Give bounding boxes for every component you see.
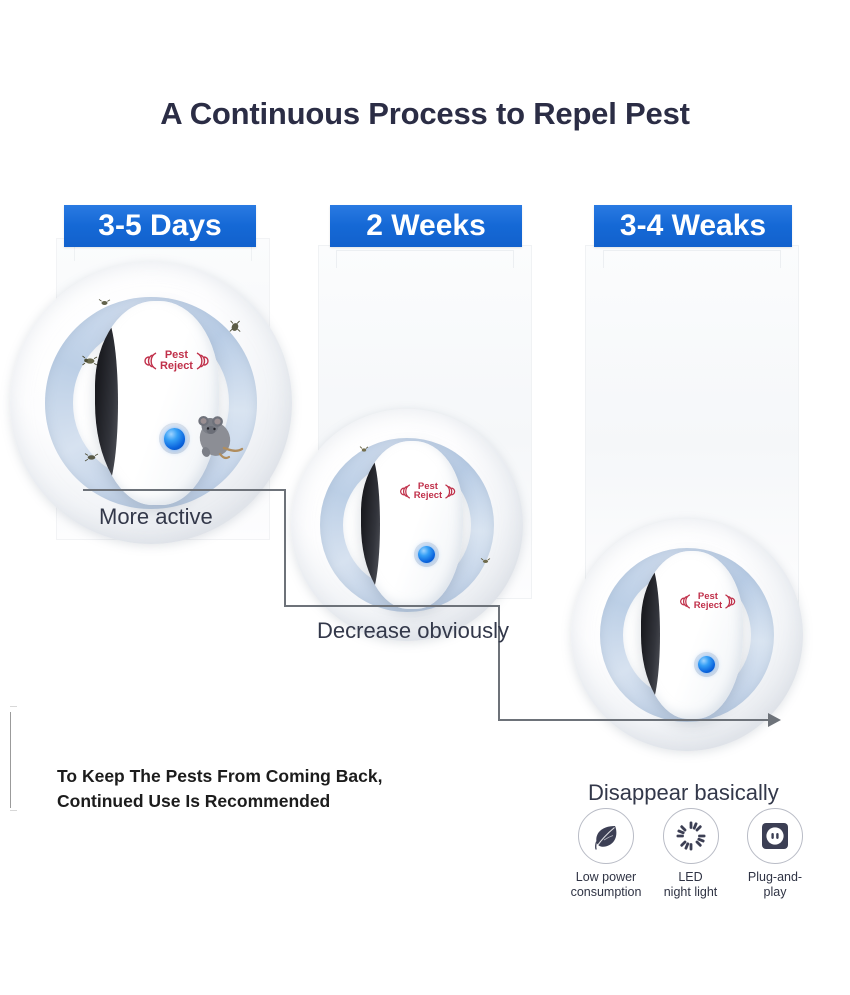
feature-circle	[663, 808, 719, 864]
repeller-body: Pest Reject	[361, 441, 463, 608]
pest-reject-logo: Pest Reject	[142, 350, 211, 372]
keep-pests-away-note: To Keep The Pests From Coming Back, Cont…	[57, 764, 382, 814]
led-core	[698, 656, 716, 674]
feature-plug-and-play: Plug-and-play	[737, 808, 813, 901]
pest-reject-logo: Pest Reject	[679, 592, 736, 611]
insect-icon	[359, 445, 369, 454]
connector-segment-3	[284, 605, 500, 607]
logo-line-2: Reject	[160, 361, 193, 372]
insect-icon	[98, 298, 111, 308]
led-core	[164, 428, 186, 450]
note-line-1: To Keep The Pests From Coming Back,	[57, 764, 382, 789]
logo-line-2: Reject	[414, 491, 443, 501]
feature-circle	[578, 808, 634, 864]
edge-tick-artifact-bottom	[10, 810, 17, 811]
stage-caption-1: More active	[99, 504, 213, 530]
speaker-slot	[95, 314, 119, 493]
stage-badge-3: 3-4 Weaks	[594, 205, 792, 247]
page-title: A Continuous Process to Repel Pest	[0, 96, 850, 132]
insect-icon	[82, 355, 98, 366]
sound-wave-right-icon	[194, 350, 210, 372]
power-socket-icon	[760, 821, 790, 851]
stage-caption-3: Disappear basically	[588, 780, 779, 806]
insect-icon	[480, 557, 491, 565]
sound-wave-left-icon	[399, 482, 412, 501]
led-indicator	[694, 652, 720, 678]
note-line-2: Continued Use Is Recommended	[57, 789, 382, 814]
infographic-canvas: A Continuous Process to Repel Pest 3-5 D…	[0, 0, 850, 995]
feature-led-night-light: LED night light	[653, 808, 729, 901]
stage-caption-2: Decrease obviously	[317, 618, 509, 644]
led-burst-icon	[676, 821, 706, 851]
pest-reject-logo: Pest Reject	[399, 482, 456, 501]
sound-wave-right-icon	[723, 592, 736, 611]
insect-icon	[84, 452, 99, 462]
speaker-slot	[641, 561, 660, 708]
repeller-body: Pest Reject	[95, 301, 219, 504]
connector-segment-2	[284, 489, 286, 606]
sound-wave-left-icon	[143, 350, 159, 372]
insect-icon	[228, 320, 242, 333]
led-indicator	[414, 542, 440, 568]
feature-circle	[747, 808, 803, 864]
stage-badge-2: 2 Weeks	[330, 205, 522, 247]
feature-label: Low power consumption	[571, 870, 642, 901]
logo-line-2: Reject	[694, 601, 723, 611]
edge-line-artifact	[10, 712, 11, 808]
led-indicator	[159, 423, 190, 454]
repeller-body: Pest Reject	[641, 551, 743, 718]
connector-arrowhead	[768, 713, 781, 727]
stage-badge-1: 3-5 Days	[64, 205, 256, 247]
sound-wave-right-icon	[443, 482, 456, 501]
edge-tick-artifact-top	[10, 706, 17, 707]
speaker-slot	[361, 451, 380, 598]
connector-segment-5	[498, 719, 770, 721]
connector-segment-1	[83, 489, 286, 491]
feature-low-power: Low power consumption	[568, 808, 644, 901]
feature-list: Low power consumption	[568, 808, 813, 901]
mouse-icon	[190, 412, 244, 462]
feature-label: LED night light	[664, 870, 718, 901]
device-stage-1: Pest Reject	[10, 262, 292, 544]
led-core	[418, 546, 436, 564]
sound-wave-left-icon	[679, 592, 692, 611]
leaf-icon	[591, 821, 621, 851]
feature-label: Plug-and-play	[737, 870, 813, 901]
